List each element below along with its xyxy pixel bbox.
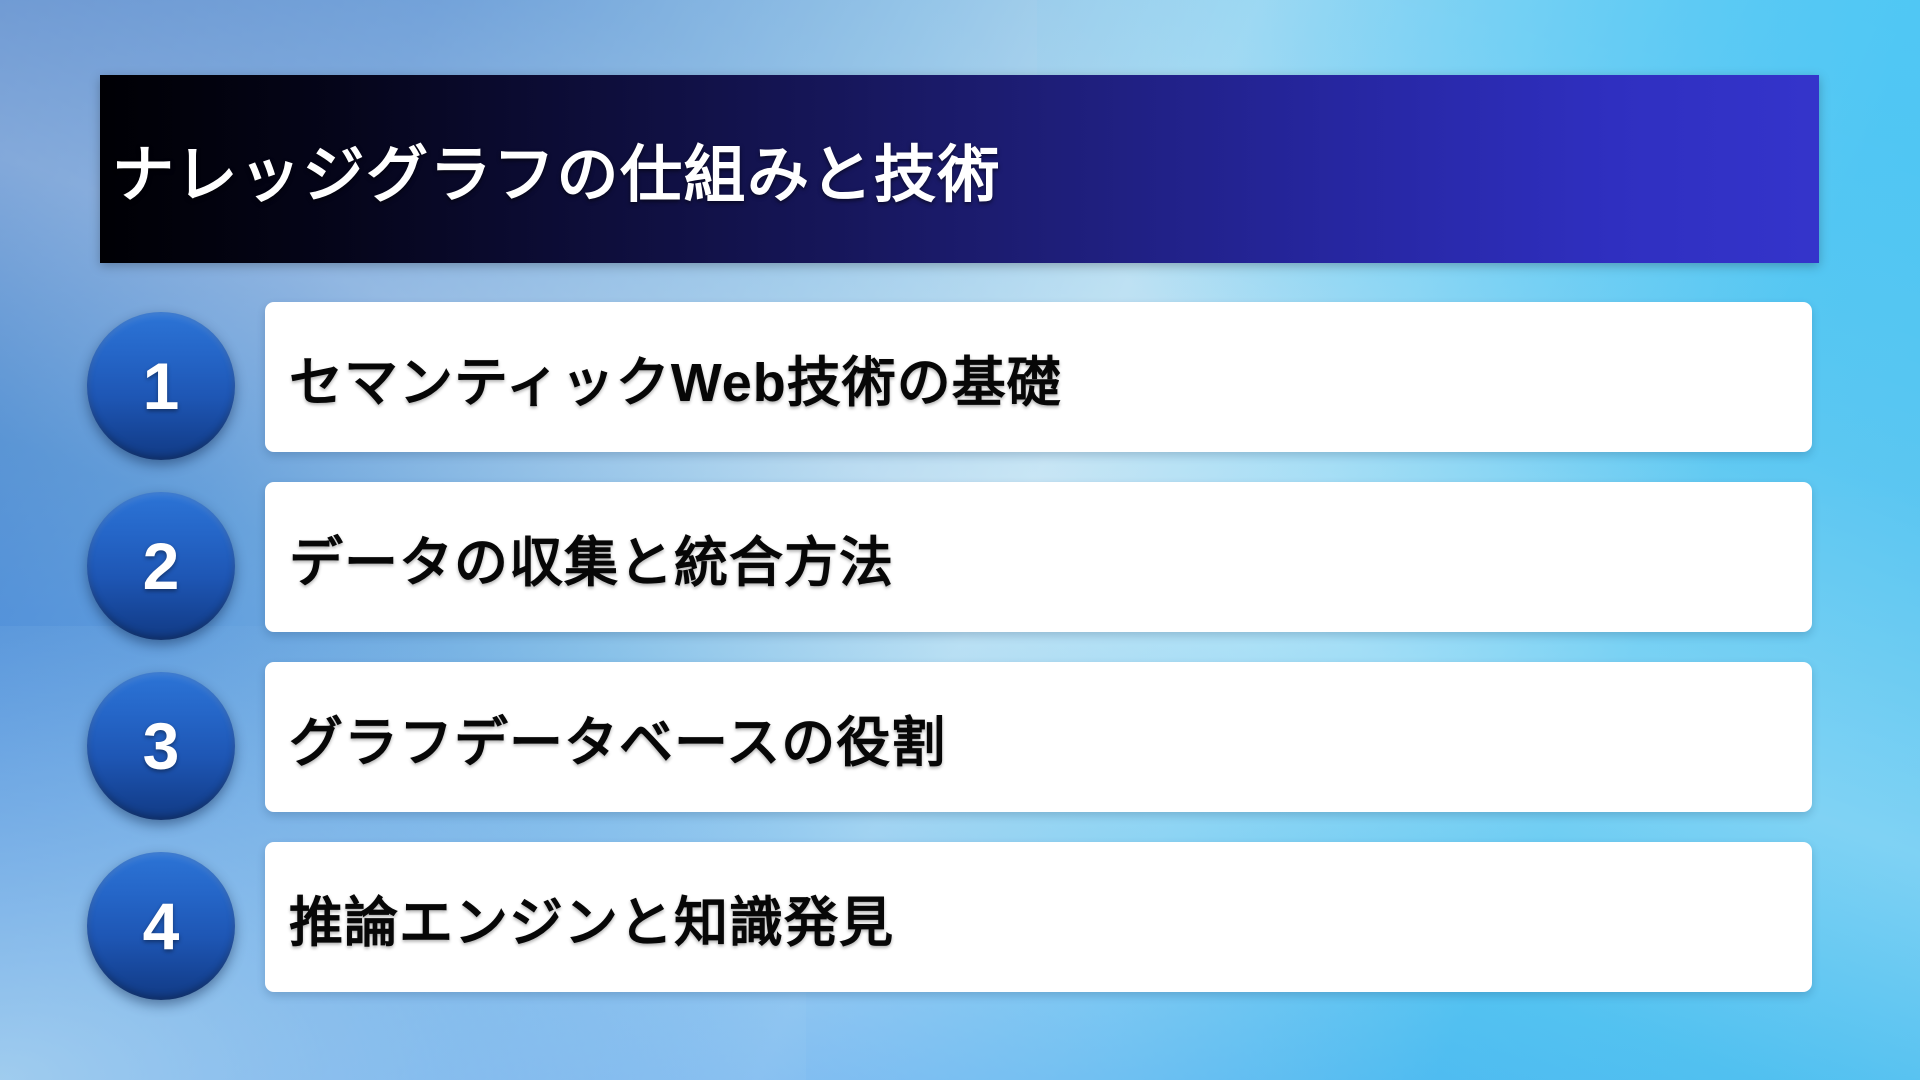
list-item-card[interactable]: 推論エンジンと知識発見	[265, 842, 1812, 992]
list-item-label: グラフデータベースの役割	[265, 698, 946, 777]
list-item[interactable]: 推論エンジンと知識発見 4	[0, 828, 1920, 1008]
list-item-label: 推論エンジンと知識発見	[265, 878, 894, 957]
list-item[interactable]: グラフデータベースの役割 3	[0, 648, 1920, 828]
list-item[interactable]: セマンティックWeb技術の基礎 1	[0, 288, 1920, 468]
slide-canvas: ナレッジグラフの仕組みと技術 セマンティックWeb技術の基礎 1 データの収集と…	[0, 0, 1920, 1080]
list-item-card[interactable]: データの収集と統合方法	[265, 482, 1812, 632]
list-item-number: 2	[143, 533, 180, 599]
list-item-number: 3	[143, 713, 180, 779]
list-item-label: データの収集と統合方法	[265, 518, 894, 597]
list-item-label: セマンティックWeb技術の基礎	[265, 338, 1062, 417]
list-item-number-badge: 4	[87, 852, 235, 1000]
list-item-number: 4	[143, 893, 180, 959]
list-item-card[interactable]: セマンティックWeb技術の基礎	[265, 302, 1812, 452]
numbered-item-list: セマンティックWeb技術の基礎 1 データの収集と統合方法 2 グラフデータベー…	[0, 288, 1920, 1008]
list-item-number-badge: 2	[87, 492, 235, 640]
list-item[interactable]: データの収集と統合方法 2	[0, 468, 1920, 648]
list-item-card[interactable]: グラフデータベースの役割	[265, 662, 1812, 812]
slide-title: ナレッジグラフの仕組みと技術	[100, 124, 1001, 214]
list-item-number: 1	[143, 353, 180, 419]
title-banner: ナレッジグラフの仕組みと技術	[100, 75, 1819, 263]
list-item-number-badge: 1	[87, 312, 235, 460]
list-item-number-badge: 3	[87, 672, 235, 820]
